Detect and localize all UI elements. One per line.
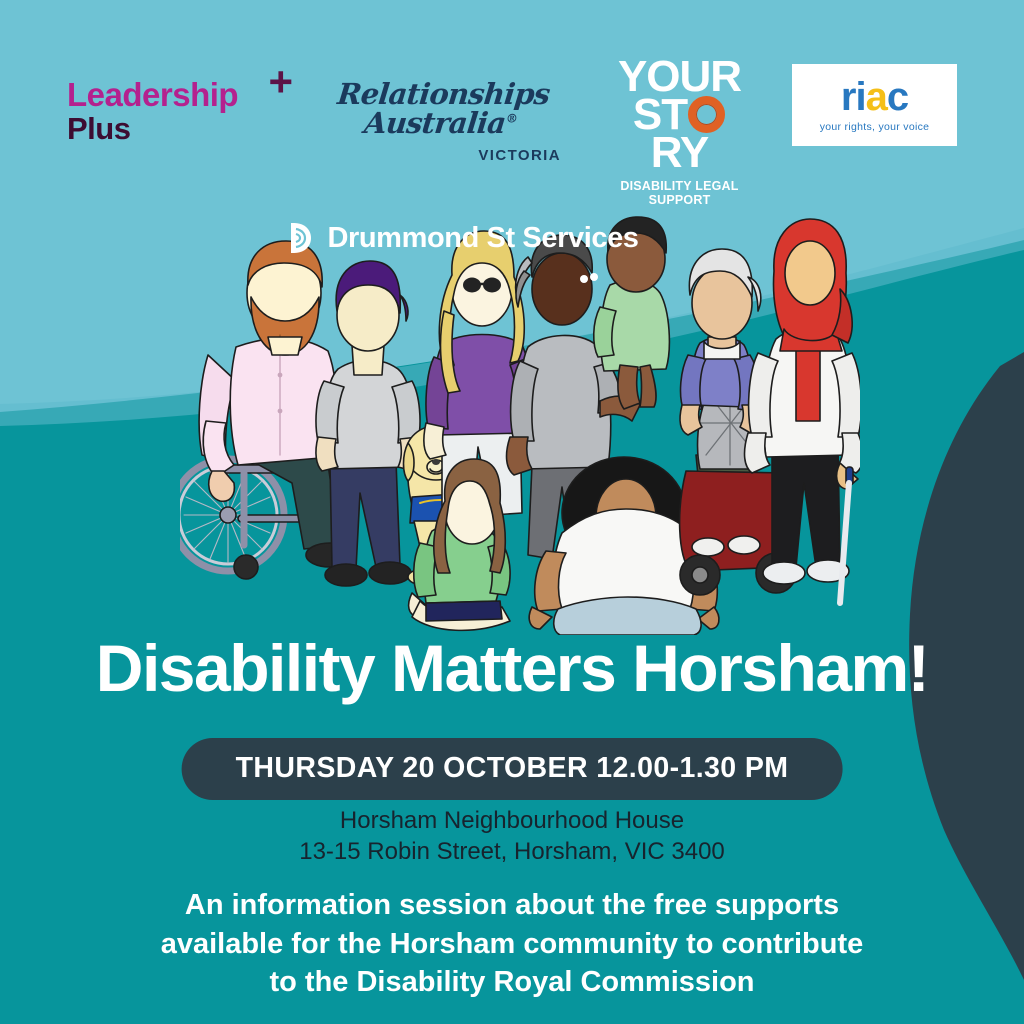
drummond-st-wordmark: Drummond St Services	[327, 222, 638, 255]
description-line-1: An information session about the free su…	[0, 886, 1024, 925]
your-story-ry: RY	[651, 128, 709, 177]
riac-ri: ri	[841, 75, 866, 119]
leadership-plus-logo: Leadership + Plus	[67, 58, 277, 145]
riac-tagline: your rights, your voice	[820, 121, 930, 133]
relationships-australia-victoria-logo: Relationships Australia® VICTORIA	[317, 58, 567, 164]
registered-trademark-icon: ®	[505, 111, 518, 125]
relationships-australia-state: VICTORIA	[317, 147, 567, 164]
people-illustration-svg	[180, 215, 860, 635]
riac-a: a	[866, 75, 887, 119]
venue-details: Horsham Neighbourhood House 13-15 Robin …	[0, 806, 1024, 867]
logo-row-primary: Leadership + Plus Relationships Australi…	[0, 58, 1024, 207]
event-description: An information session about the free su…	[0, 886, 1024, 1002]
sound-waves-icon	[285, 221, 315, 255]
page-title: Disability Matters Horsham!	[0, 635, 1024, 701]
leadership-plus-wordmark-top: Leadership +	[67, 78, 277, 111]
drummond-st-services-logo: Drummond St Services	[285, 221, 638, 255]
your-story-line2: STRY	[607, 96, 752, 172]
description-line-2: available for the Horsham community to c…	[0, 925, 1024, 964]
logo-row-secondary: Drummond St Services	[0, 221, 1024, 255]
your-story-tagline: DISABILITY LEGAL SUPPORT	[607, 179, 752, 207]
relationships-australia-wordmark: Relationships Australia®	[314, 80, 570, 138]
plus-icon: +	[268, 61, 293, 103]
description-line-3: to the Disability Royal Commission	[0, 963, 1024, 1002]
group-of-people-with-disabilities-illustration	[180, 215, 860, 635]
event-poster: Leadership + Plus Relationships Australi…	[0, 0, 1024, 1024]
venue-name: Horsham Neighbourhood House	[0, 806, 1024, 837]
riac-wordmark: riac	[841, 77, 908, 117]
event-datetime-badge: THURSDAY 20 OCTOBER 12.00-1.30 PM	[182, 738, 843, 800]
venue-address: 13-15 Robin Street, Horsham, VIC 3400	[0, 837, 1024, 868]
riac-logo: riac your rights, your voice	[792, 64, 957, 146]
person-teen-grey-shirt	[316, 261, 420, 586]
sponsor-logos: Leadership + Plus Relationships Australi…	[0, 58, 1024, 255]
your-story-logo: YOUR STRY DISABILITY LEGAL SUPPORT	[607, 58, 752, 207]
ra-script-text: Relationships Australia	[336, 77, 551, 140]
leadership-plus-line1: Leadership	[67, 78, 238, 111]
leadership-plus-line2: Plus	[67, 112, 277, 145]
riac-c: c	[887, 75, 908, 119]
